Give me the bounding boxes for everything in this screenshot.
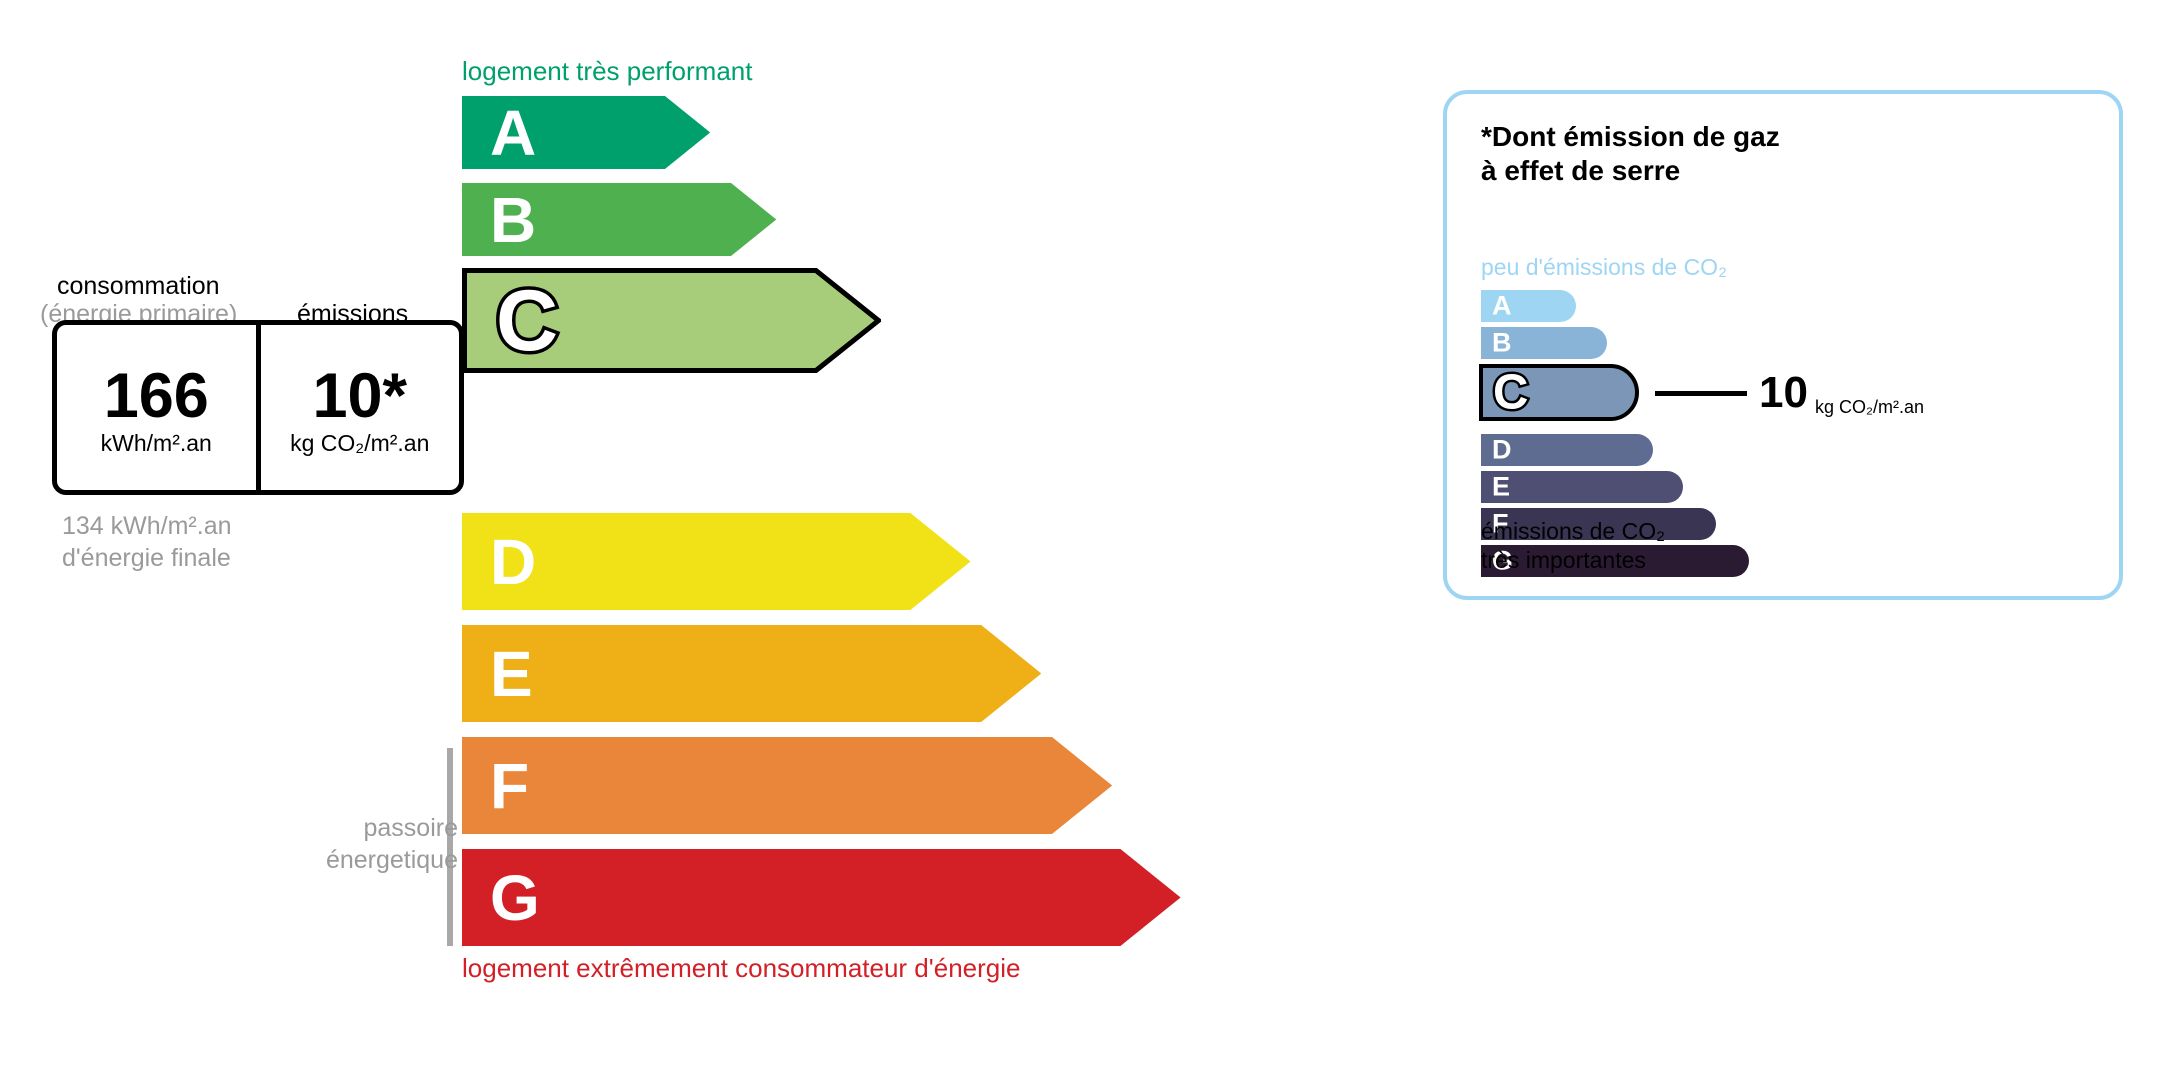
greenhouse-gas-card: *Dont émission de gaz à effet de serre p… [1443, 90, 2123, 600]
energy-class-letter-d: D [490, 530, 536, 594]
energy-class-arrow-g: G [462, 849, 1181, 946]
passoire-line2: énergetique [268, 844, 458, 876]
consumption-value-cell: 166 kWh/m².an [57, 325, 261, 490]
energy-class-letter-b: B [490, 188, 536, 252]
energy-class-arrow-b: B [462, 183, 776, 256]
ges-top-label: peu d'émissions de CO₂ [1481, 254, 1727, 281]
energy-class-arrow-a: A [462, 96, 710, 169]
energy-class-letter-a: A [490, 101, 536, 165]
emissions-value-cell: 10* kg CO₂/m².an [261, 325, 460, 490]
ges-class-letter-a: A [1492, 293, 1512, 320]
emissions-value: 10* [312, 364, 407, 428]
dpe-energy-label: logement très performant ABCDEFG consomm… [0, 0, 2169, 1079]
consumption-header: consommation [57, 272, 220, 301]
energy-class-arrow-f: F [462, 737, 1112, 834]
ges-leader-line [1655, 391, 1747, 396]
ges-value: 10 [1759, 371, 1808, 415]
arrow-shape-g [462, 849, 1181, 946]
final-energy-line1: 134 kWh/m².an [62, 510, 232, 542]
energy-class-arrow-e: E [462, 625, 1041, 722]
ges-class-bar-d: D [1481, 434, 1653, 466]
ges-class-letter-e: E [1492, 474, 1510, 501]
energy-performance-scale: logement très performant ABCDEFG consomm… [0, 0, 1400, 1079]
ges-class-bar-b: B [1481, 327, 1607, 359]
energy-class-letter-c: C [496, 278, 558, 364]
energy-class-arrow-c: C [462, 268, 881, 373]
consumption-unit: kWh/m².an [101, 430, 212, 457]
passoire-line1: passoire [268, 812, 458, 844]
ges-class-letter-b: B [1492, 330, 1512, 357]
ges-title-line2: à effet de serre [1481, 154, 1780, 188]
energy-class-letter-e: E [490, 642, 533, 706]
ges-card-title: *Dont émission de gaz à effet de serre [1481, 120, 1780, 188]
scale-top-label: logement très performant [462, 56, 752, 87]
ges-title-line1: *Dont émission de gaz [1481, 120, 1780, 154]
ges-class-bar-e: E [1481, 471, 1683, 503]
ges-value-unit: kg CO₂/m².an [1815, 398, 1924, 416]
ges-class-letter-d: D [1492, 437, 1512, 464]
ges-bottom-line1: émissions de CO₂ [1481, 517, 1665, 546]
final-energy-note: 134 kWh/m².an d'énergie finale [62, 510, 232, 574]
passoire-label: passoire énergetique [268, 812, 458, 876]
value-box: 166 kWh/m².an 10* kg CO₂/m².an [52, 320, 464, 495]
consumption-value: 166 [104, 364, 209, 428]
energy-class-arrow-d: D [462, 513, 971, 610]
emissions-unit: kg CO₂/m².an [290, 430, 429, 457]
energy-class-letter-f: F [490, 754, 529, 818]
arrow-shape-d [462, 513, 971, 610]
scale-bottom-label: logement extrêmement consommateur d'éner… [462, 953, 1020, 984]
ges-class-letter-c: C [1493, 368, 1528, 417]
ges-bottom-label: émissions de CO₂ très importantes [1481, 517, 1665, 575]
ges-bottom-line2: très importantes [1481, 546, 1665, 575]
arrow-shape-e [462, 625, 1041, 722]
ges-class-bar-c: C [1479, 364, 1639, 421]
arrow-shape-f [462, 737, 1112, 834]
energy-class-letter-g: G [490, 866, 540, 930]
ges-class-bar-a: A [1481, 290, 1576, 322]
final-energy-line2: d'énergie finale [62, 542, 232, 574]
